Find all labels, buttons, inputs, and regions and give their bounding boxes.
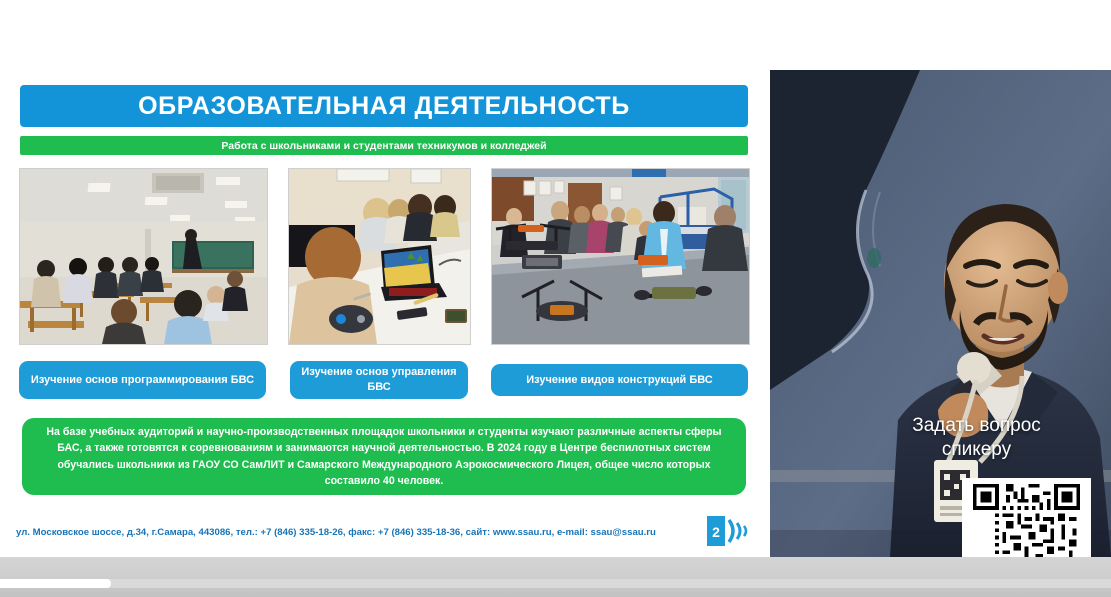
player-bottom-bar: [0, 557, 1111, 597]
slide-body-text: На базе учебных аудиторий и научно-произ…: [36, 424, 732, 490]
slide-body-block: На базе учебных аудиторий и научно-произ…: [22, 418, 746, 495]
presentation-stage: ОБРАЗОВАТЕЛЬНАЯ ДЕЯТЕЛЬНОСТЬ Работа с шк…: [0, 0, 1111, 597]
slide-subtitle: Работа с школьниками и студентами техник…: [221, 140, 546, 152]
classroom-lecture-photo: [19, 168, 268, 345]
students-laptops-photo: [288, 168, 471, 345]
caption-constructions: Изучение видов конструкций БВС: [491, 364, 748, 396]
slide-canvas: ОБРАЗОВАТЕЛЬНАЯ ДЕЯТЕЛЬНОСТЬ Работа с шк…: [0, 0, 770, 557]
page-number-badge: 2: [707, 516, 751, 546]
caption-control: Изучение основ управления БВС: [290, 361, 468, 399]
page-title: ОБРАЗОВАТЕЛЬНАЯ ДЕЯТЕЛЬНОСТЬ: [138, 92, 630, 121]
slide-subtitle-bar: Работа с школьниками и студентами техник…: [20, 136, 748, 155]
slide-footer: ул. Московское шоссе, д.34, г.Самара, 44…: [16, 522, 696, 542]
slide-title-bar: ОБРАЗОВАТЕЛЬНАЯ ДЕЯТЕЛЬНОСТЬ: [20, 85, 748, 127]
progress-bar-fill: [0, 579, 111, 588]
footer-contacts: ул. Московское шоссе, д.34, г.Самара, 44…: [16, 527, 656, 538]
caption-programming: Изучение основ программирования БВС: [19, 361, 266, 399]
progress-bar-track[interactable]: [0, 579, 1111, 588]
drone-lab-photo: [491, 168, 750, 345]
svg-text:2: 2: [712, 524, 720, 540]
